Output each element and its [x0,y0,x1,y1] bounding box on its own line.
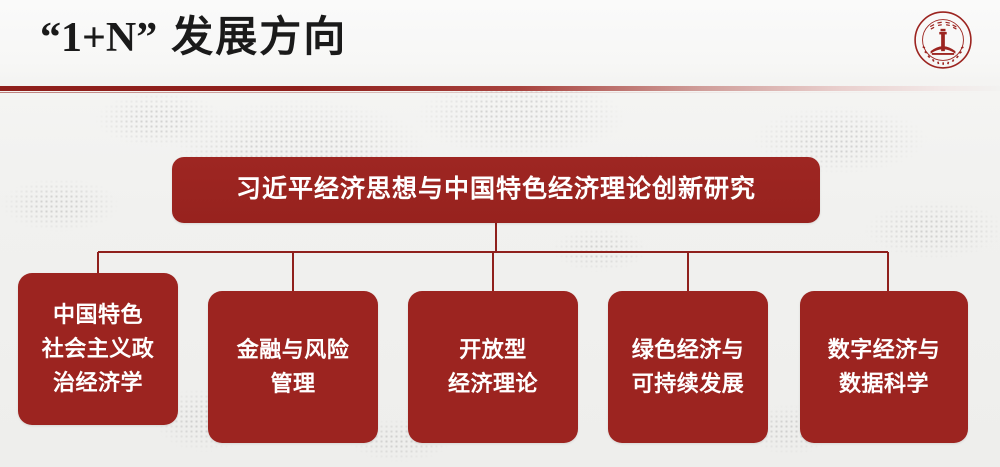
diagram-node-5-label: 数字经济与 数据科学 [820,333,949,401]
diagram-node-2[interactable]: 金融与风险 管理 [208,291,378,443]
diagram-node-1[interactable]: 中国特色 社会主义政 治经济学 [18,273,178,425]
diagram-node-2-label: 金融与风险 管理 [229,333,358,401]
page-title-main: 发展方向 [171,13,347,60]
diagram-root-node[interactable]: 习近平经济思想与中国特色经济理论创新研究 [172,157,820,223]
slide-canvas: “1+N”发展方向 [0,0,1000,467]
header-divider-secondary [0,92,1000,93]
diagram-node-1-label: 中国特色 社会主义政 治经济学 [34,298,163,400]
page-title-quoted: “1+N” [40,15,157,61]
diagram-root-label: 习近平经济思想与中国特色经济理论创新研究 [236,176,756,204]
diagram-node-3-label: 开放型 经济理论 [440,333,546,401]
page-title: “1+N”发展方向 [40,16,347,59]
header-divider [0,86,1000,91]
diagram-node-3[interactable]: 开放型 经济理论 [408,291,578,443]
diagram-node-4-label: 绿色经济与 可持续发展 [624,333,753,401]
diagram-node-4[interactable]: 绿色经济与 可持续发展 [608,291,768,443]
diagram-node-5[interactable]: 数字经济与 数据科学 [800,291,968,443]
university-seal-icon [912,9,974,71]
